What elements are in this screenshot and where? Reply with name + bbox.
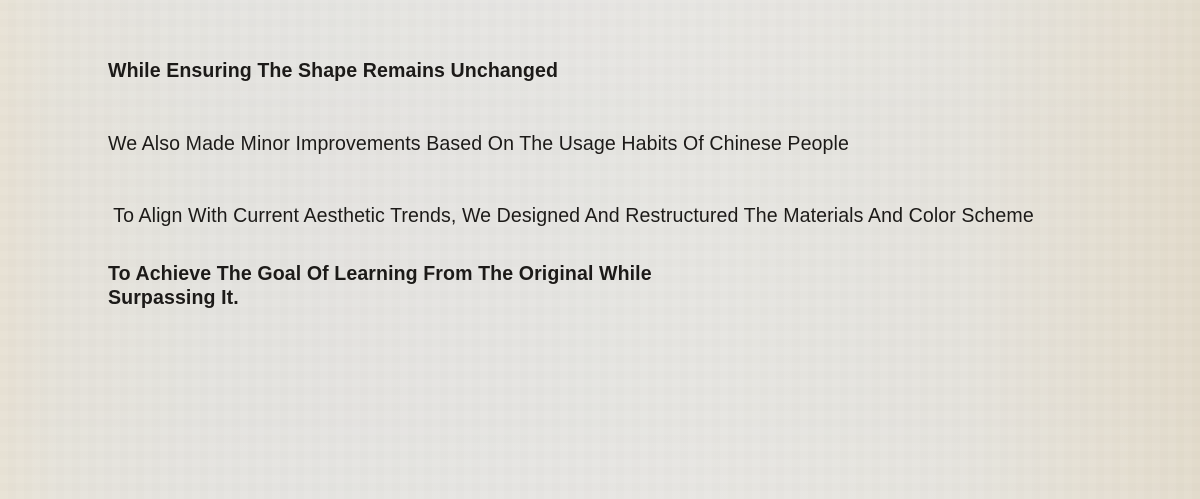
text-line-2: We Also Made Minor Improvements Based On… xyxy=(108,131,849,157)
text-line-3: To Align With Current Aesthetic Trends, … xyxy=(108,203,1034,229)
slide-canvas: While Ensuring The Shape Remains Unchang… xyxy=(0,0,1200,499)
text-line-4: To Achieve The Goal Of Learning From The… xyxy=(108,262,681,309)
text-line-1: While Ensuring The Shape Remains Unchang… xyxy=(108,58,558,84)
